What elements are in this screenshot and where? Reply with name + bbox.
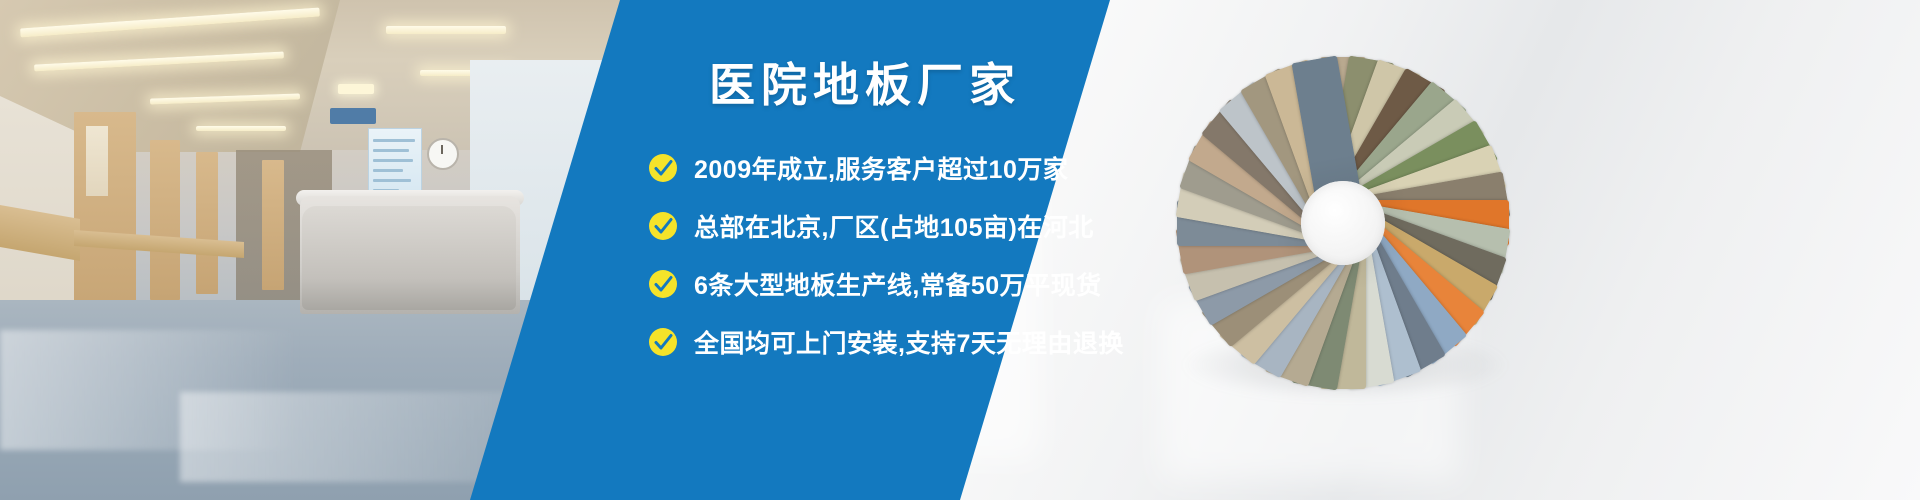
door [196, 152, 218, 294]
page-title: 医院地板厂家 [655, 62, 1075, 108]
fan-hub [1301, 181, 1385, 265]
check-circle-icon [648, 211, 678, 241]
feature-text: 6条大型地板生产线,常备50万平现货 [694, 266, 1102, 302]
feature-item: 全国均可上门安装,支持7天无理由退换 [620, 314, 1140, 370]
ceiling-light [196, 126, 286, 131]
flooring-sample-fan [1165, 45, 1521, 401]
feature-list: 2009年成立,服务客户超过10万家总部在北京,厂区(占地105亩)在河北6条大… [620, 140, 1140, 372]
ceiling-sign [330, 108, 376, 124]
ceiling-light [386, 26, 506, 34]
check-circle-icon [648, 327, 678, 357]
feature-item: 2009年成立,服务客户超过10万家 [620, 140, 1140, 196]
feature-item: 总部在北京,厂区(占地105亩)在河北 [620, 198, 1140, 254]
door [262, 160, 284, 290]
feature-item: 6条大型地板生产线,常备50万平现货 [620, 256, 1140, 312]
check-circle-icon [648, 153, 678, 183]
sign-light [338, 84, 374, 94]
feature-text: 2009年成立,服务客户超过10万家 [694, 150, 1068, 186]
wall-clock [427, 138, 459, 170]
banner-content: 医院地板厂家 2009年成立,服务客户超过10万家总部在北京,厂区(占地105亩… [620, 0, 1140, 500]
check-circle-icon [648, 269, 678, 299]
promo-banner: 医院地板厂家 2009年成立,服务客户超过10万家总部在北京,厂区(占地105亩… [0, 0, 1920, 500]
door-window [86, 126, 108, 196]
feature-text: 全国均可上门安装,支持7天无理由退换 [694, 324, 1124, 360]
door [150, 140, 180, 300]
feature-text: 总部在北京,厂区(占地105亩)在河北 [694, 208, 1094, 244]
waiting-sofa [302, 206, 516, 310]
